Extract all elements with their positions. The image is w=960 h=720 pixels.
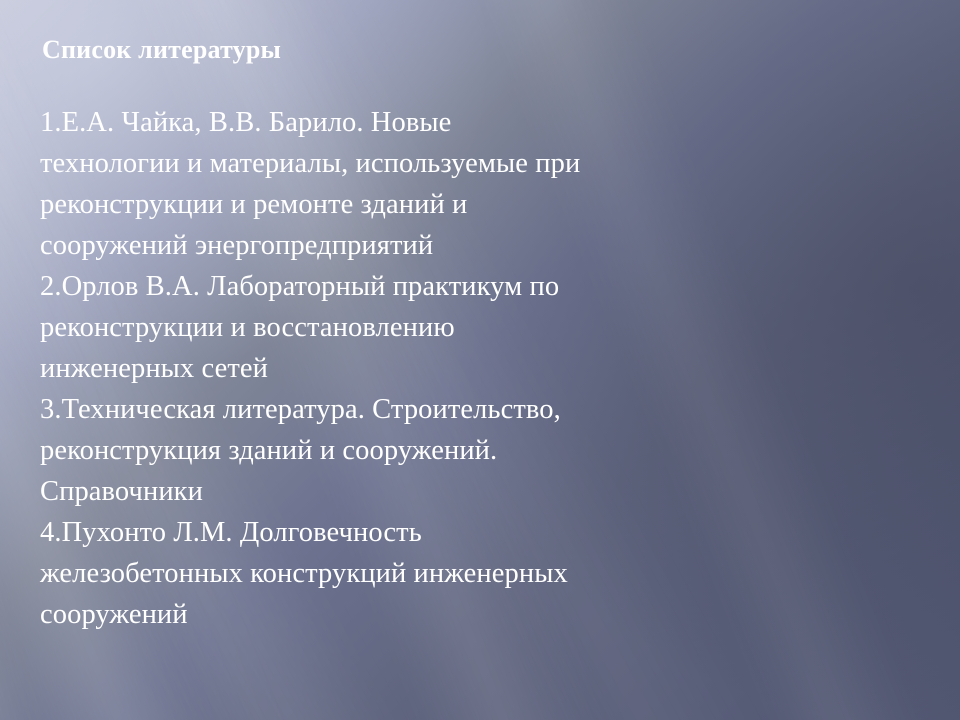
reference-line: 3.Техническая литература. Строительство, [40, 389, 920, 430]
slide-content: Список литературы 1.Е.А. Чайка, В.В. Бар… [40, 34, 920, 635]
reference-line: реконструкции и ремонте зданий и [40, 184, 920, 225]
reference-line: сооружений энергопредприятий [40, 225, 920, 266]
reference-line: реконструкции и восстановлению [40, 307, 920, 348]
reference-line: реконструкция зданий и сооружений. [40, 430, 920, 471]
reference-line: 1.Е.А. Чайка, В.В. Барило. Новые [40, 102, 920, 143]
slide-title: Список литературы [42, 34, 920, 66]
reference-line: Справочники [40, 471, 920, 512]
presentation-slide: Список литературы 1.Е.А. Чайка, В.В. Бар… [0, 0, 960, 720]
reference-line: железобетонных конструкций инженерных [40, 553, 920, 594]
reference-line: 2.Орлов В.А. Лабораторный практикум по [40, 266, 920, 307]
reference-line: инженерных сетей [40, 348, 920, 389]
reference-list: 1.Е.А. Чайка, В.В. Барило. Новые техноло… [40, 102, 920, 635]
reference-line: сооружений [40, 594, 920, 635]
reference-line: технологии и материалы, используемые при [40, 143, 920, 184]
reference-line: 4.Пухонто Л.М. Долговечность [40, 512, 920, 553]
